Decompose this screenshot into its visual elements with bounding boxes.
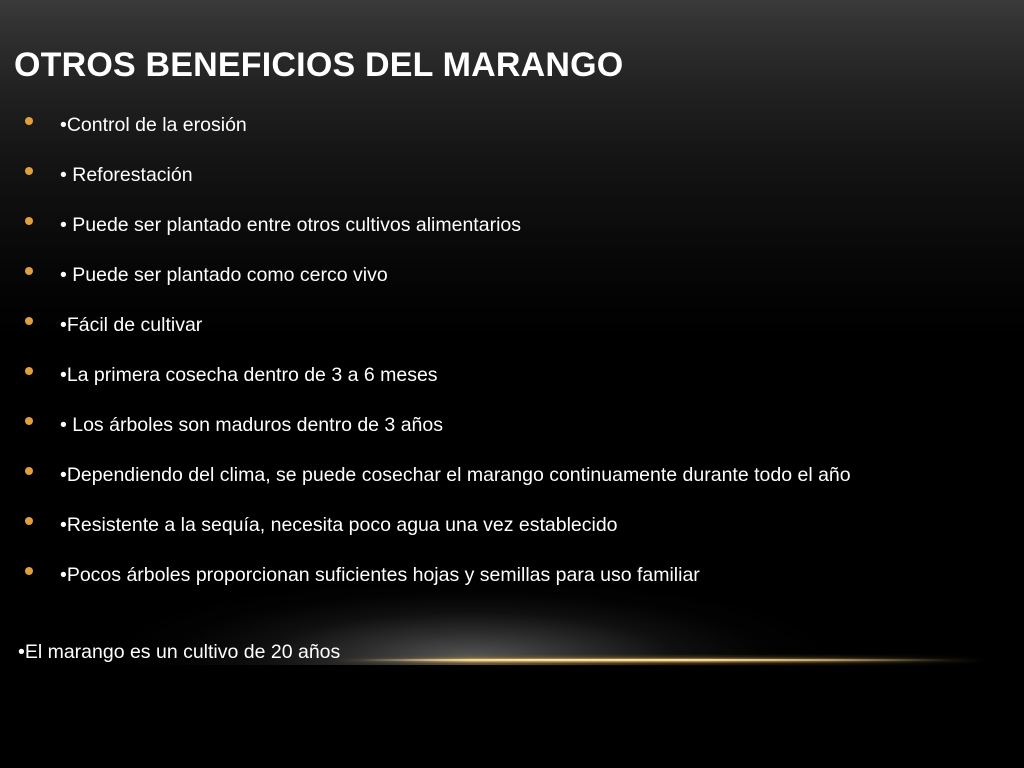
bullet-dot-icon: [25, 467, 33, 475]
list-item: • Puede ser plantado entre otros cultivo…: [0, 206, 1024, 256]
bullet-dot-icon: [25, 517, 33, 525]
list-item-label: • Reforestación: [60, 156, 984, 191]
list-item: • Los árboles son maduros dentro de 3 añ…: [0, 406, 1024, 456]
bullet-dot-icon: [25, 267, 33, 275]
trailing-note: •El marango es un cultivo de 20 años: [18, 638, 340, 666]
list-item: •Fácil de cultivar: [0, 306, 1024, 356]
list-item-label: •Fácil de cultivar: [60, 306, 984, 341]
list-item-label: •Resistente a la sequía, necesita poco a…: [60, 506, 984, 541]
slide-canvas: Otros beneficios del marango •Control de…: [0, 0, 1024, 768]
bullet-dot-icon: [25, 417, 33, 425]
list-item-label: •Pocos árboles proporcionan suficientes …: [60, 556, 984, 591]
list-item-label: •Dependiendo del clima, se puede cosecha…: [60, 456, 984, 491]
bullet-dot-icon: [25, 317, 33, 325]
bullet-dot-icon: [25, 367, 33, 375]
list-item-label: •La primera cosecha dentro de 3 a 6 mese…: [60, 356, 984, 391]
list-item-label: • Puede ser plantado entre otros cultivo…: [60, 206, 984, 241]
bullet-list: •Control de la erosión • Reforestación •…: [0, 106, 1024, 606]
bullet-dot-icon: [25, 217, 33, 225]
bullet-dot-icon: [25, 167, 33, 175]
list-item: •La primera cosecha dentro de 3 a 6 mese…: [0, 356, 1024, 406]
list-item: •Control de la erosión: [0, 106, 1024, 156]
list-item: • Puede ser plantado como cerco vivo: [0, 256, 1024, 306]
list-item-label: • Los árboles son maduros dentro de 3 añ…: [60, 406, 984, 441]
page-title: Otros beneficios del marango: [14, 44, 994, 86]
list-item: • Reforestación: [0, 156, 1024, 206]
list-item: •Dependiendo del clima, se puede cosecha…: [0, 456, 1024, 506]
list-item: •Resistente a la sequía, necesita poco a…: [0, 506, 1024, 556]
bullet-dot-icon: [25, 567, 33, 575]
list-item-label: •Control de la erosión: [60, 106, 984, 141]
bullet-dot-icon: [25, 117, 33, 125]
list-item: •Pocos árboles proporcionan suficientes …: [0, 556, 1024, 606]
list-item-label: • Puede ser plantado como cerco vivo: [60, 256, 984, 291]
